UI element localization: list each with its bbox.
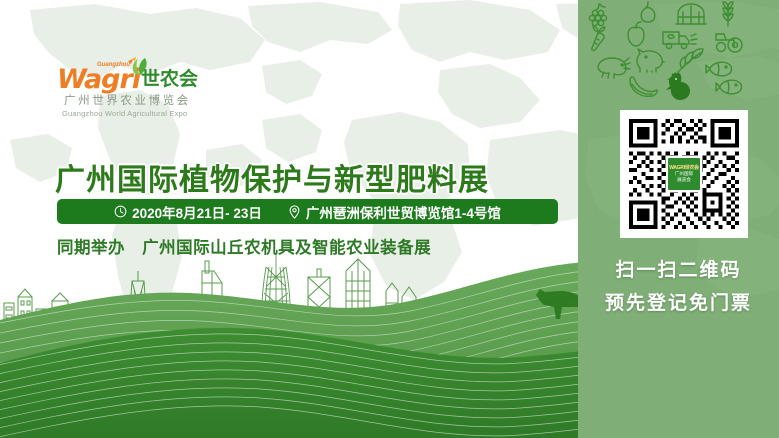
page-title: 广州国际植物保护与新型肥料展 (55, 155, 489, 199)
agriculture-icon-cluster (578, 0, 779, 110)
concurrent-event-title: 广州国际山丘农机具及智能农业装备展 (142, 239, 431, 257)
event-info-bar: 2020年8月21日- 23日 广州琶洲保利世贸博览馆1-4号馆 (57, 199, 558, 224)
location-pin-icon (288, 205, 301, 219)
greenhouse-icon (676, 4, 706, 24)
concurrent-event-line: 同期举办 广州国际山丘农机具及智能农业装备展 (57, 234, 431, 258)
registration-qr-code[interactable]: WAGRI世农会 广州国际 展览会 (620, 110, 748, 238)
logo-name-cn: 广州世界农业博览会 (64, 92, 191, 108)
delivery-truck-icon (663, 32, 697, 49)
wagri-logo[interactable]: Guangzhou Wagri 世农会 广州世界农业博览会 Guangzhou … (57, 62, 207, 124)
logo-name-en: Guangzhou World Agricultural Expo (62, 109, 187, 118)
pig-icon (637, 49, 664, 72)
leaf-branch-icon (678, 49, 703, 72)
grapes-icon (589, 4, 606, 26)
fish-icon (716, 80, 742, 94)
banana-icon (630, 77, 657, 96)
qr-center-logo: WAGRI世农会 广州国际 展览会 (666, 156, 702, 192)
fish-icon (706, 62, 732, 76)
expo-banner: WAGRI世农会 广州国际 展览会 扫一扫二维码 预先登记免门票 Guangzh… (0, 0, 779, 438)
clock-icon (114, 205, 127, 218)
logo-brand-cn: 世农会 (141, 70, 198, 90)
event-date: 2020年8月21日- 23日 (114, 202, 262, 222)
concurrent-tag: 同期举办 (57, 239, 125, 257)
shrimp-icon (598, 58, 630, 78)
tractor-icon (716, 34, 742, 52)
pear-icon (641, 2, 655, 22)
event-venue: 广州琶洲保利世贸博览馆1-4号馆 (288, 202, 501, 222)
carrot-icon (592, 26, 605, 50)
qr-caption-scan: 扫一扫二维码 (578, 255, 779, 282)
rooster-icon (666, 73, 690, 107)
wheat-icon (723, 2, 733, 26)
qr-side-panel: WAGRI世农会 广州国际 展览会 (578, 0, 779, 438)
apple-icon (628, 22, 644, 46)
event-venue-text: 广州琶洲保利世贸博览馆1-4号馆 (306, 202, 501, 222)
event-date-text: 2020年8月21日- 23日 (132, 202, 262, 222)
logo-wordmark-row: Guangzhou Wagri 世农会 (57, 62, 207, 92)
qr-caption-free-ticket: 预先登记免门票 (578, 288, 779, 315)
qr-logo-line3: 展览会 (677, 177, 691, 183)
